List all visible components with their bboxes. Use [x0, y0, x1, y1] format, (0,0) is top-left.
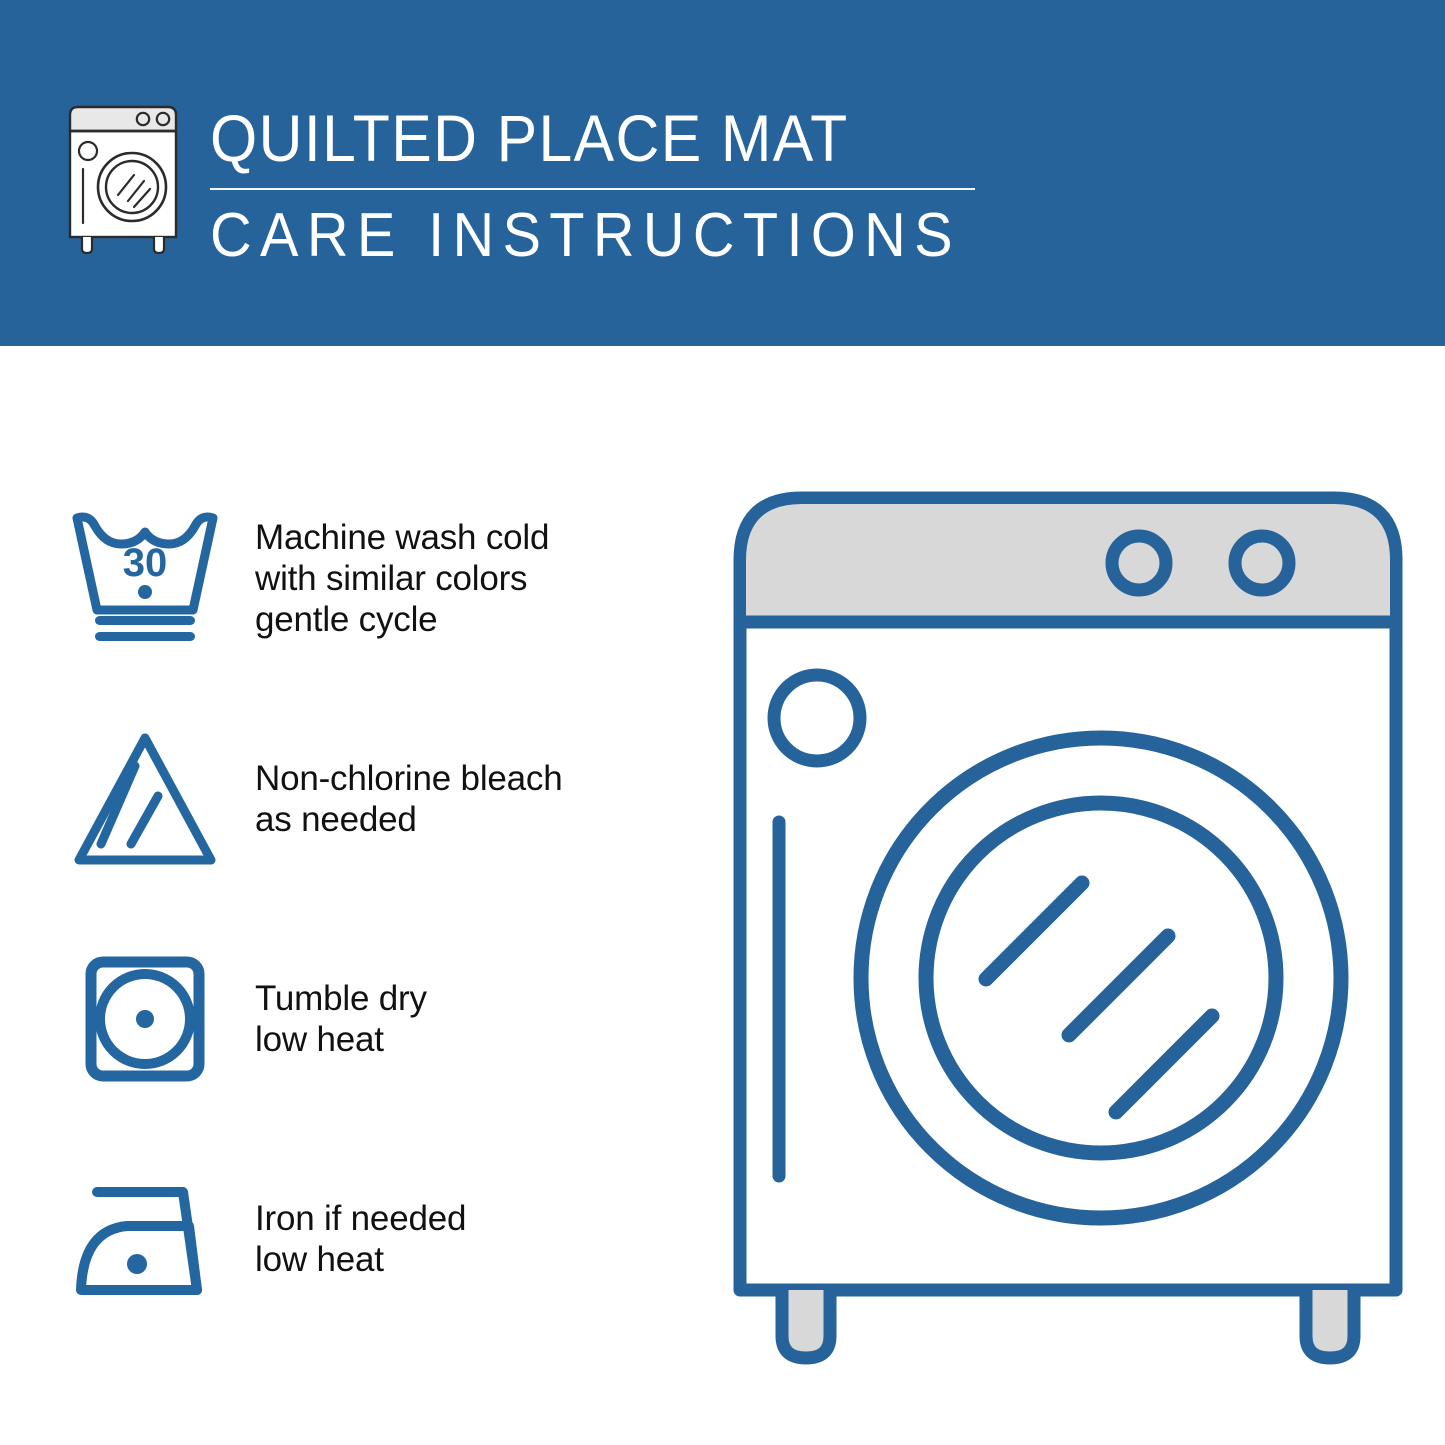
header-band: QUILTED PLACE MAT CARE INSTRUCTIONS — [0, 0, 1445, 346]
care-instruction-list: 30 Machine wash cold with similar colors… — [0, 346, 700, 1445]
care-text-line: low heat — [255, 1019, 427, 1060]
tumble-dry-low-icon — [62, 936, 227, 1101]
detergent-drawer-circle — [774, 675, 860, 761]
wash-temperature-label: 30 — [122, 541, 167, 585]
leg-right — [1306, 1290, 1354, 1358]
care-item-text: Iron if needed low heat — [255, 1198, 466, 1280]
leg-left — [782, 1290, 830, 1358]
washing-machine-icon — [64, 103, 182, 255]
care-item-tumble-dry: Tumble dry low heat — [0, 936, 700, 1101]
care-text-line: low heat — [255, 1239, 466, 1280]
care-text-line: Iron if needed — [255, 1198, 466, 1239]
title-divider — [210, 188, 975, 190]
knob-left — [1112, 536, 1166, 590]
care-item-text: Machine wash cold with similar colors ge… — [255, 517, 549, 640]
care-instructions-graphic: QUILTED PLACE MAT CARE INSTRUCTIONS 30 — [0, 0, 1445, 1445]
header-titles: QUILTED PLACE MAT CARE INSTRUCTIONS — [210, 100, 1110, 272]
care-item-text: Tumble dry low heat — [255, 978, 427, 1060]
care-text-line: gentle cycle — [255, 599, 549, 640]
care-item-bleach: Non-chlorine bleach as needed — [0, 716, 700, 881]
drum-inner-ring — [926, 803, 1276, 1153]
care-text-line: Machine wash cold — [255, 517, 549, 558]
care-text-line: with similar colors — [255, 558, 549, 599]
front-load-washing-machine-illustration — [718, 470, 1418, 1370]
wash-tub-30-icon: 30 — [62, 496, 227, 661]
page-subtitle: CARE INSTRUCTIONS — [210, 200, 1047, 272]
care-item-text: Non-chlorine bleach as needed — [255, 758, 563, 840]
iron-low-heat-icon — [62, 1156, 227, 1321]
knob-right — [1235, 536, 1289, 590]
care-item-iron: Iron if needed low heat — [0, 1156, 700, 1321]
care-item-machine-wash: 30 Machine wash cold with similar colors… — [0, 496, 700, 661]
care-text-line: Tumble dry — [255, 978, 427, 1019]
non-chlorine-bleach-triangle-icon — [62, 716, 227, 881]
care-text-line: as needed — [255, 799, 563, 840]
care-text-line: Non-chlorine bleach — [255, 758, 563, 799]
page-title: QUILTED PLACE MAT — [210, 100, 1038, 176]
